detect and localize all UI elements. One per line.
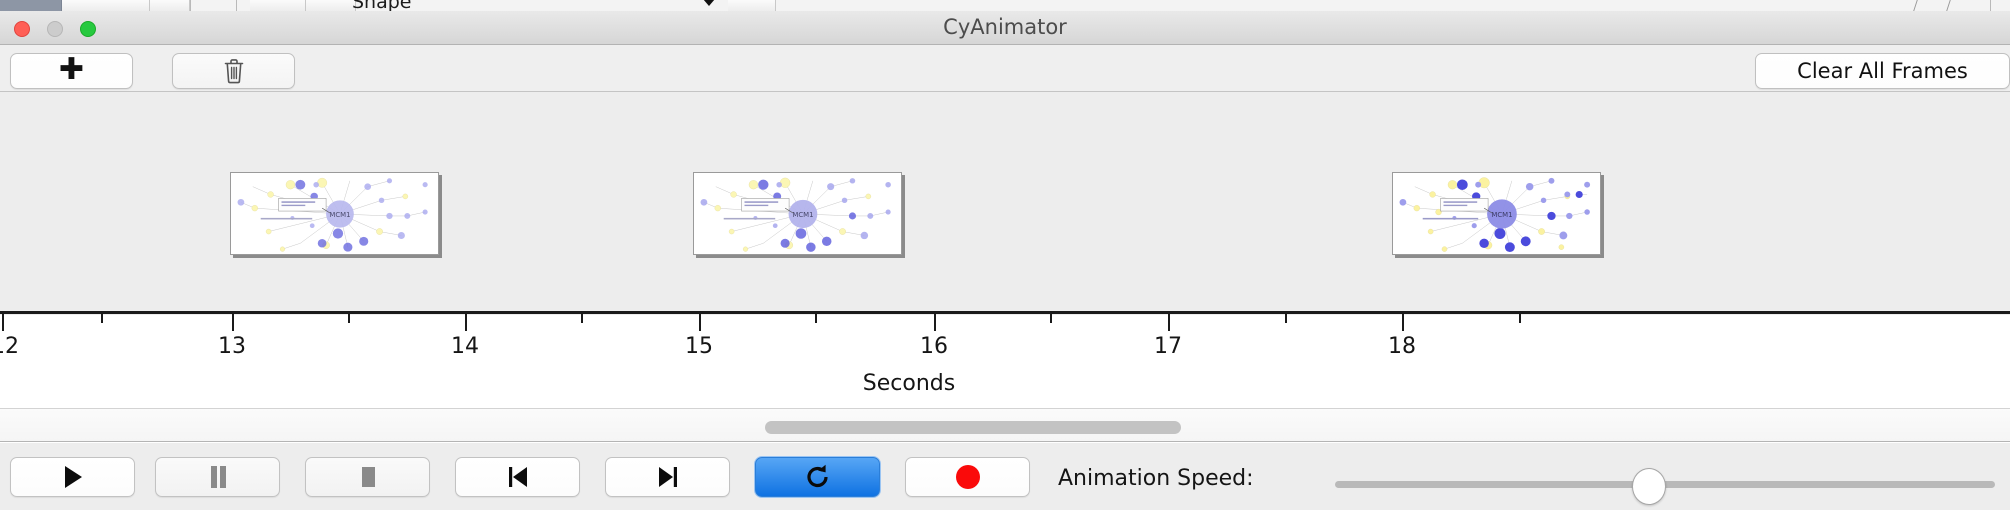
axis-tick-minor [101, 314, 103, 323]
axis-title: Seconds [0, 371, 2010, 396]
axis-tick-minor [1519, 314, 1521, 323]
timeline-frame[interactable]: MCM1 [230, 172, 439, 255]
axis-tick-minor [1050, 314, 1052, 323]
axis-tick-17 [1168, 314, 1170, 331]
network-thumbnail: MCM1 [231, 173, 438, 254]
axis-tick-12 [2, 314, 4, 331]
axis-title-text: Seconds [863, 371, 955, 396]
skip-forward-icon [656, 465, 680, 489]
axis-tick-15 [699, 314, 701, 331]
title-bar[interactable]: CyAnimator [0, 11, 2010, 45]
svg-text:MCM1: MCM1 [329, 211, 350, 219]
axis-tick-minor [1285, 314, 1287, 323]
bg-tab [62, 0, 150, 11]
loop-button[interactable] [755, 457, 880, 497]
timeline-axis [0, 311, 2010, 314]
axis-tick-16 [934, 314, 936, 331]
timeline-scrollbar-thumb[interactable] [765, 421, 1181, 434]
play-button[interactable] [10, 457, 135, 497]
bg-tab [728, 0, 776, 11]
toolbar: ✚ Clear All Frames [0, 45, 2010, 92]
stop-button[interactable] [305, 457, 430, 497]
animation-speed-label: Animation Speed: [1058, 466, 1254, 491]
pause-button[interactable] [155, 457, 280, 497]
play-icon [62, 465, 84, 489]
axis-tick-13 [232, 314, 234, 331]
timeline-scrollbar[interactable] [0, 408, 2010, 442]
skip-back-icon [506, 465, 530, 489]
axis-label-17: 17 [1154, 334, 1182, 359]
axis-label-16: 16 [920, 334, 948, 359]
cyanimator-window: Shape CyAnimator ✚ Clear All Frames [0, 0, 2010, 510]
skip-to-end-button[interactable] [605, 457, 730, 497]
playback-toolbar: Animation Speed: [0, 443, 2010, 510]
clear-all-frames-button[interactable]: Clear All Frames [1755, 53, 2010, 89]
timeline-panel[interactable]: MCM1 [0, 92, 2010, 315]
animation-speed-slider-handle[interactable] [1632, 468, 1666, 505]
trash-icon [223, 58, 245, 84]
loop-icon [805, 464, 831, 490]
bg-tab [150, 0, 190, 11]
record-icon [956, 465, 980, 489]
bg-tab [250, 0, 306, 11]
axis-tick-minor [348, 314, 350, 323]
bg-caret-icon [703, 0, 715, 6]
background-window-strip: Shape [0, 0, 2010, 11]
bg-tab-selected [0, 0, 62, 11]
axis-label-15: 15 [685, 334, 713, 359]
axis-label-13: 13 [218, 334, 246, 359]
bg-window-label: Shape [352, 0, 412, 11]
skip-to-start-button[interactable] [455, 457, 580, 497]
axis-tick-14 [465, 314, 467, 331]
window-title: CyAnimator [0, 11, 2010, 44]
axis-label-12: 12 [0, 334, 19, 359]
axis-tick-minor [581, 314, 583, 323]
timeline-frame[interactable]: MCM1 [1392, 172, 1601, 255]
pause-icon [207, 465, 229, 489]
timeline-frame[interactable]: MCM1 [693, 172, 902, 255]
network-thumbnail: MCM1 [1393, 173, 1600, 254]
network-thumbnail: MCM1 [694, 173, 901, 254]
add-frame-button[interactable]: ✚ [10, 53, 133, 89]
axis-tick-minor [815, 314, 817, 323]
delete-frame-button[interactable] [172, 53, 295, 89]
record-button[interactable] [905, 457, 1030, 497]
svg-text:MCM1: MCM1 [1491, 211, 1512, 219]
plus-icon: ✚ [59, 55, 84, 85]
svg-text:MCM1: MCM1 [792, 211, 813, 219]
axis-label-18: 18 [1388, 334, 1416, 359]
axis-label-14: 14 [451, 334, 479, 359]
bg-tab [306, 0, 356, 11]
stop-icon [357, 465, 379, 489]
axis-tick-18 [1402, 314, 1404, 331]
